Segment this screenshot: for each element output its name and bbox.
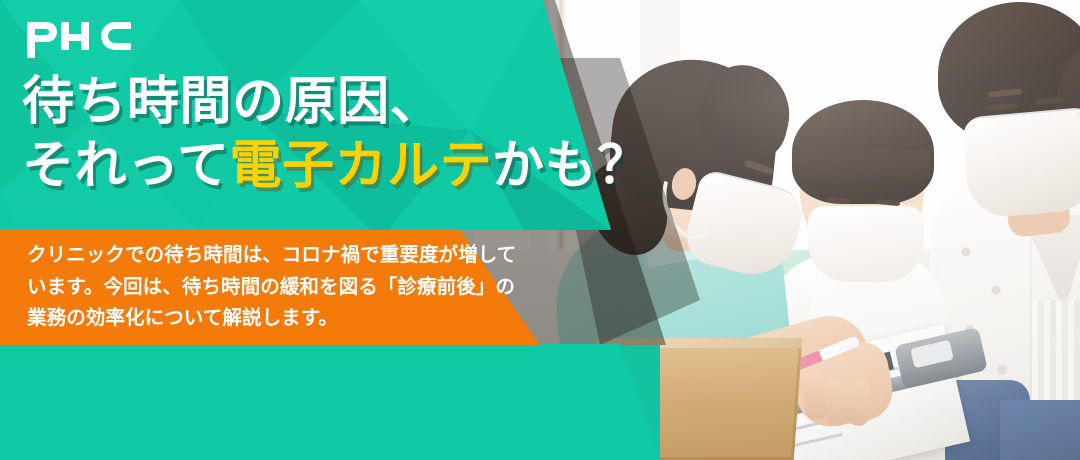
- finger: [847, 379, 871, 426]
- phc-logo[interactable]: [27, 22, 131, 58]
- headline-line-2: それって電子カルテかも？: [22, 138, 642, 194]
- phc-logo-icon: [27, 22, 131, 58]
- phc-article-banner: 待ち時間の原因、 それって電子カルテかも？ クリニックでの待ち時間は、コロナ禍で…: [0, 0, 1080, 460]
- child-jeans: [1000, 400, 1080, 460]
- child-face-mask: [808, 206, 924, 282]
- lead-paragraph: クリニックでの待ち時間は、コロナ禍で重要度が増して います。今回は、待ち時間の緩…: [27, 240, 547, 335]
- headline-line-1: 待ち時間の原因、: [22, 73, 442, 131]
- lead-line-2: います。今回は、待ち時間の緩和を図る「診療前後」の: [27, 272, 547, 304]
- headline-accent: 電子カルテ: [229, 137, 492, 195]
- headline-line-2-before: それって: [22, 137, 229, 195]
- finger: [825, 380, 849, 427]
- headline: 待ち時間の原因、 それって電子カルテかも？: [22, 74, 642, 194]
- lead-line-1: クリニックでの待ち時間は、コロナ禍で重要度が増して: [27, 240, 547, 272]
- teal-bottom-strip: [0, 344, 660, 460]
- lead-line-3: 業務の効率化について解説します。: [27, 303, 547, 335]
- child-bangs: [798, 150, 930, 186]
- headline-line-2-after: かも？: [492, 137, 650, 195]
